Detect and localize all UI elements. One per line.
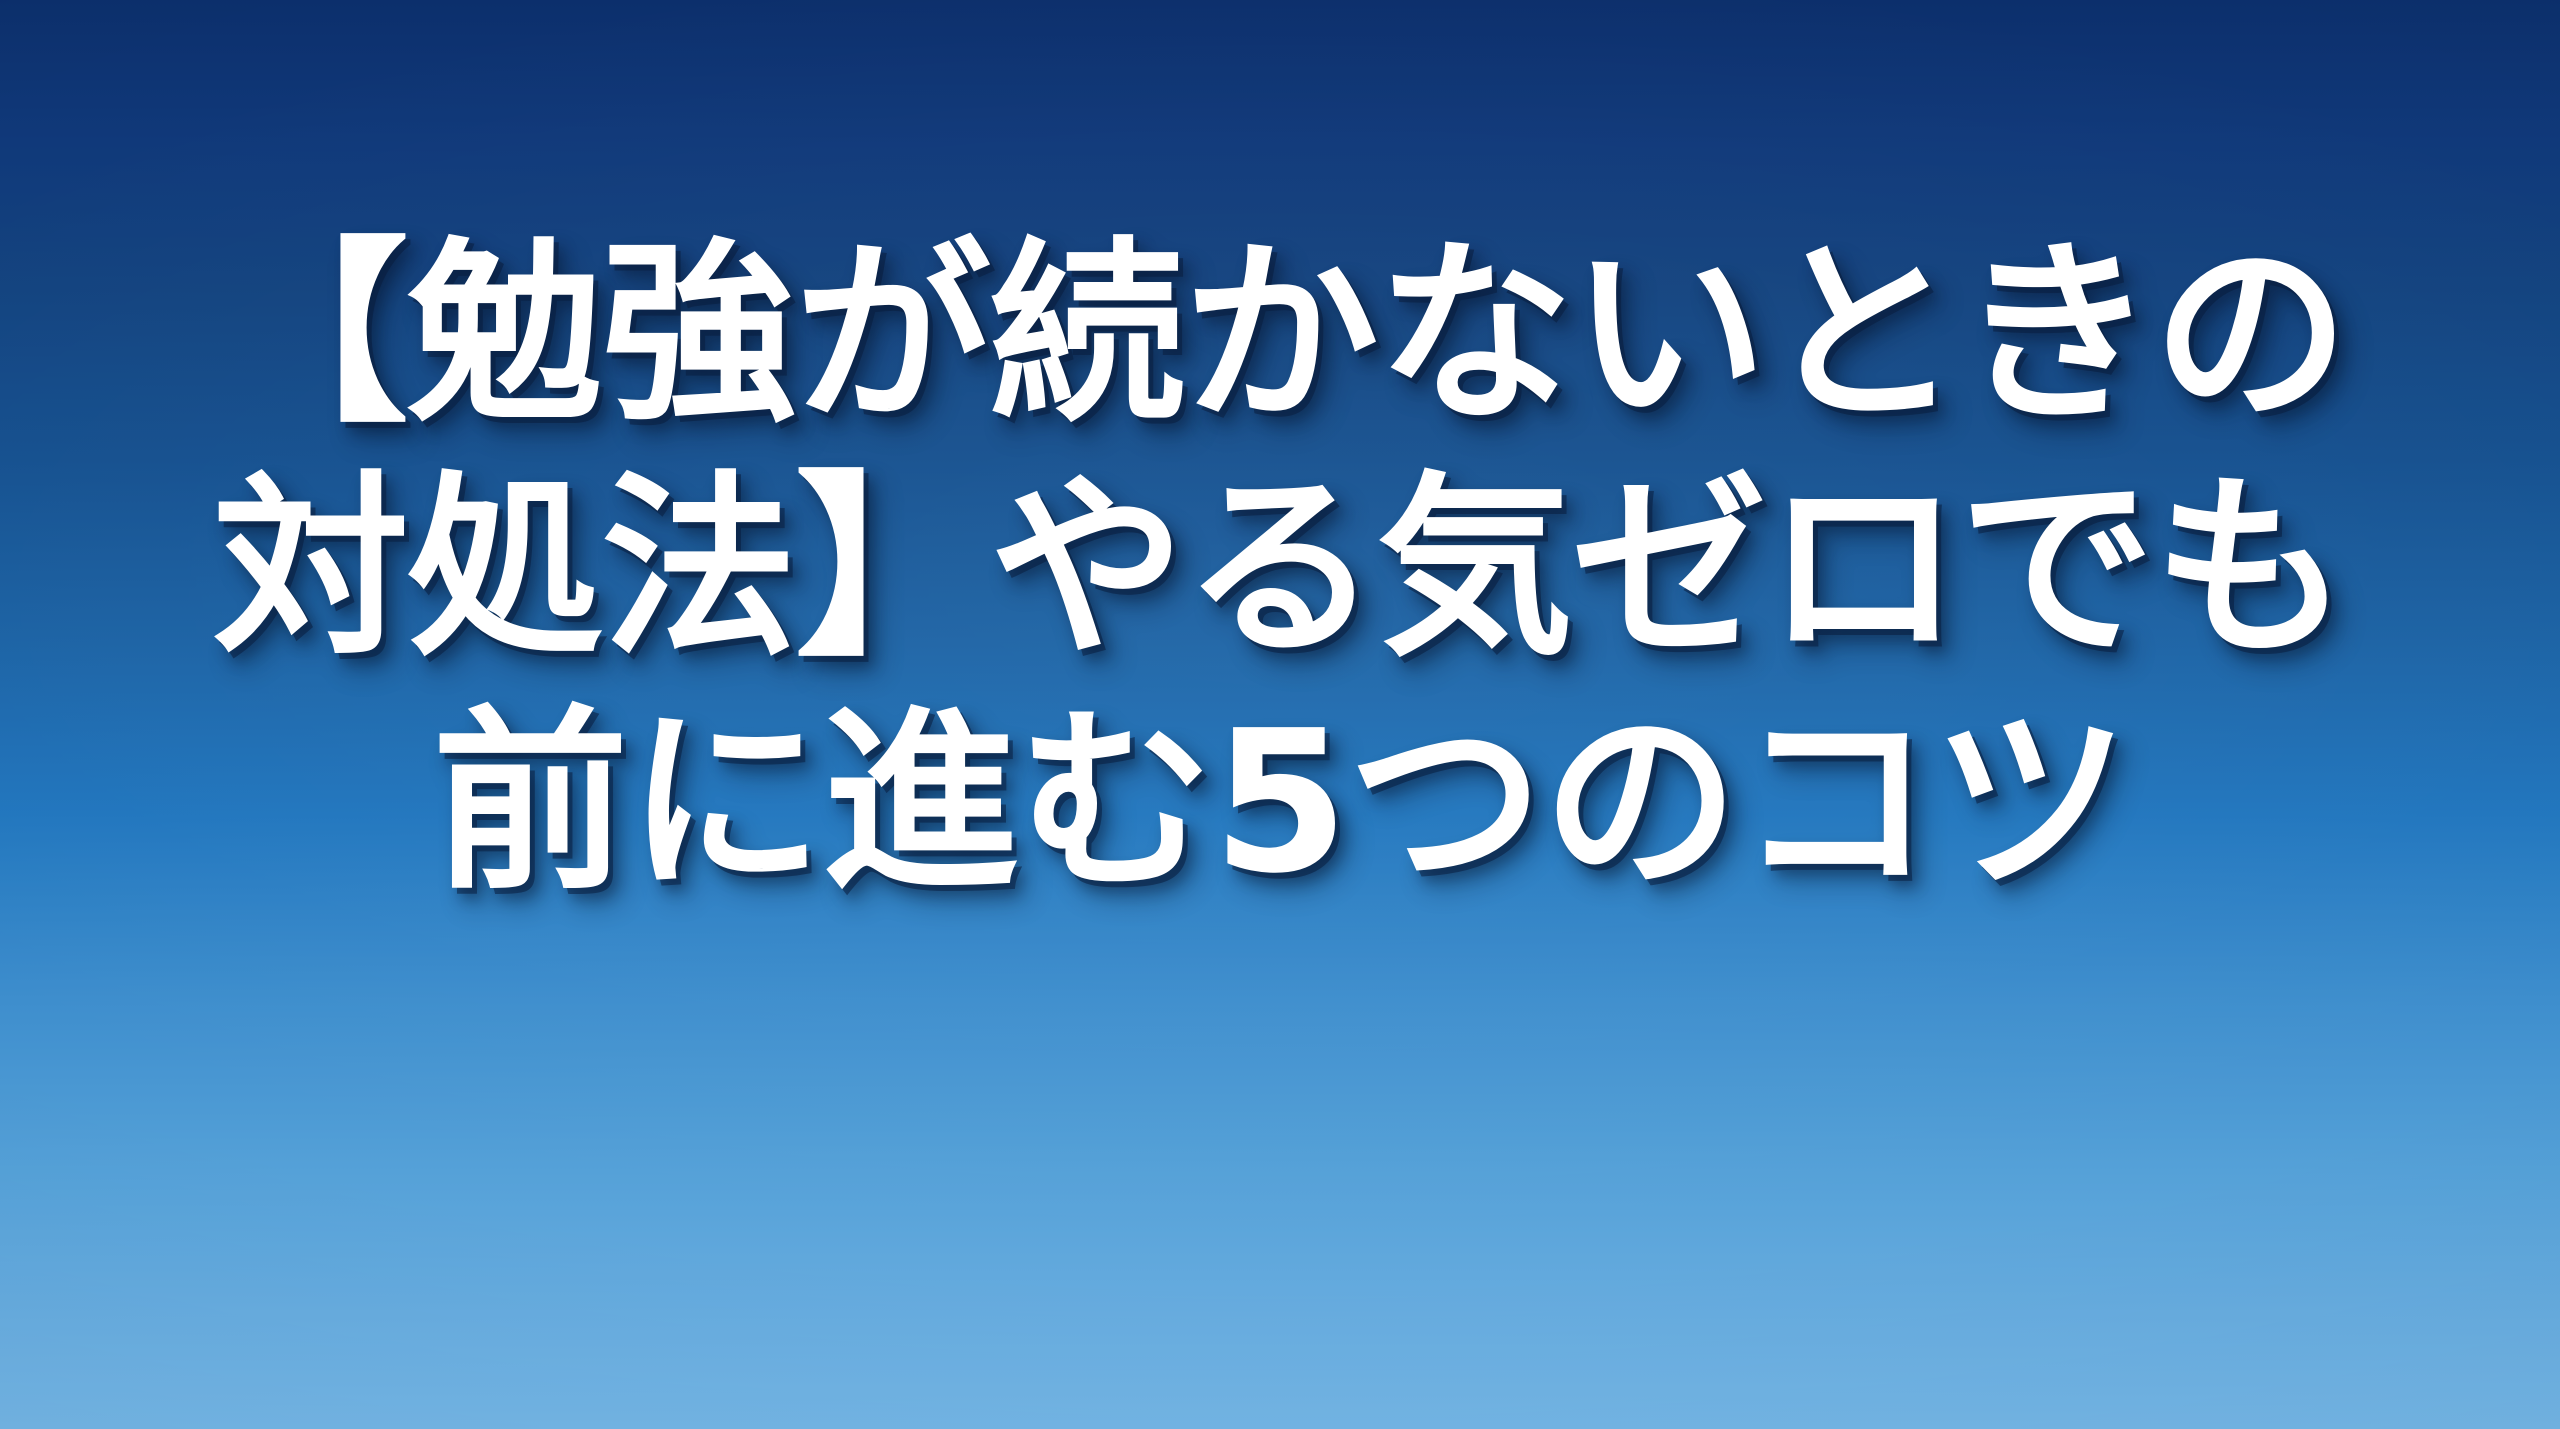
thumbnail-canvas: 【勉強が続かないときの 対処法】やる気ゼロでも 前に進む5つのコツ [0,0,2560,1429]
title-line-3: 前に進む5つのコツ [90,686,2470,920]
title-block: 【勉強が続かないときの 対処法】やる気ゼロでも 前に進む5つのコツ [0,218,2560,920]
title-line-1: 【勉強が続かないときの [90,218,2470,452]
title-line-2: 対処法】やる気ゼロでも [90,452,2470,686]
